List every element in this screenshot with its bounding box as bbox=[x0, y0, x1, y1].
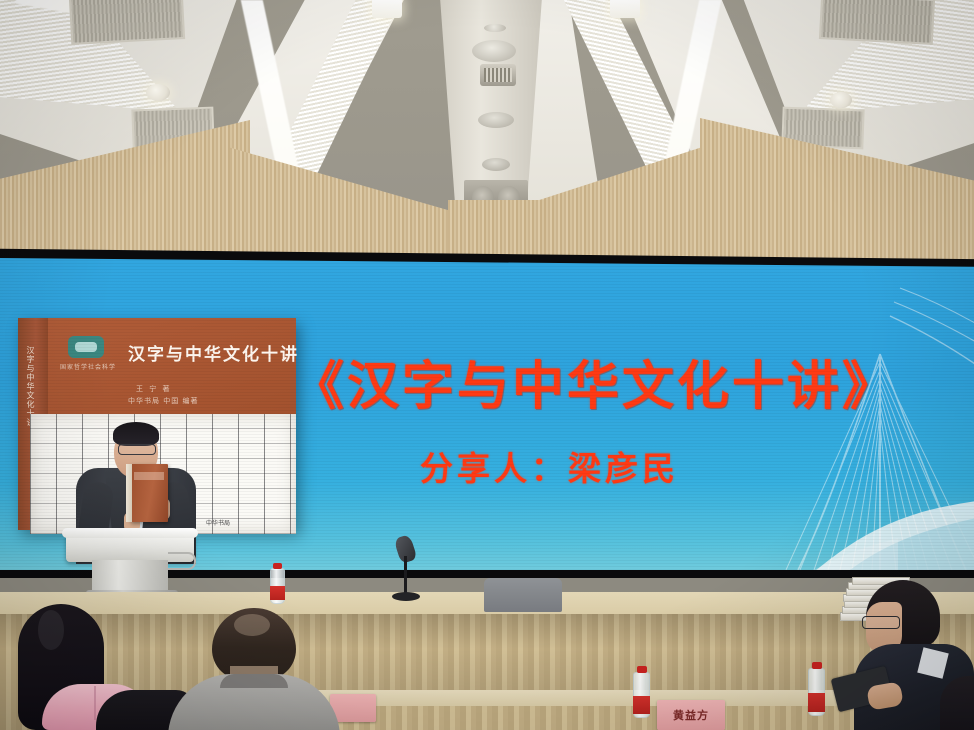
microphone-base bbox=[392, 592, 420, 601]
lecture-hall-photo: 汉字与中华文化十讲 国家哲学社会科学 汉字与中华文化十讲 王 宁 著 中华书局 … bbox=[0, 0, 974, 730]
projector-lens bbox=[484, 68, 512, 82]
downlight-1 bbox=[146, 84, 170, 101]
eyeglasses bbox=[862, 616, 900, 629]
bottle-cap bbox=[812, 662, 822, 669]
ceiling-speaker-2 bbox=[478, 112, 514, 128]
downlight-skylight-right bbox=[610, 0, 640, 18]
attendee-collar bbox=[220, 674, 288, 688]
nameplate-text: 黄益方 bbox=[673, 707, 709, 723]
nameplate-1: 黄益方 bbox=[657, 700, 725, 730]
attendee-far-right bbox=[940, 676, 974, 730]
downlight-skylight-left bbox=[372, 0, 402, 18]
air-vent-top-right bbox=[819, 0, 935, 45]
smoke-detector bbox=[484, 24, 506, 32]
bottle-body bbox=[272, 574, 284, 602]
downlight-3 bbox=[830, 92, 852, 108]
speaker-eyeglasses bbox=[118, 444, 156, 455]
speaker-hair bbox=[113, 422, 159, 446]
wall-wood-panel-behind-beam bbox=[448, 200, 544, 260]
book-held-page-edge bbox=[126, 464, 132, 522]
bottle-cap bbox=[637, 666, 647, 673]
conference-chair bbox=[484, 578, 562, 612]
attendee-shoulder bbox=[940, 676, 974, 730]
attendee-bald-highlight bbox=[234, 614, 270, 636]
bottle-label bbox=[633, 696, 650, 714]
ceiling-speaker-1 bbox=[472, 40, 516, 62]
ceiling-speaker-3 bbox=[482, 158, 510, 171]
attendee-hair-highlight bbox=[38, 610, 64, 650]
book-held-title-band bbox=[134, 472, 164, 480]
bottle-cap bbox=[273, 563, 282, 569]
attendee-gray-sweater bbox=[168, 608, 340, 730]
air-vent-top-left bbox=[69, 0, 185, 45]
podium-column bbox=[92, 560, 168, 592]
water-bottle-3 bbox=[808, 668, 825, 716]
podium-shelf-bracket bbox=[168, 552, 196, 570]
podium-top-lip bbox=[62, 528, 198, 538]
water-bottle-2 bbox=[633, 672, 650, 718]
microphone-stem bbox=[404, 556, 407, 596]
bottle-label bbox=[808, 693, 825, 712]
